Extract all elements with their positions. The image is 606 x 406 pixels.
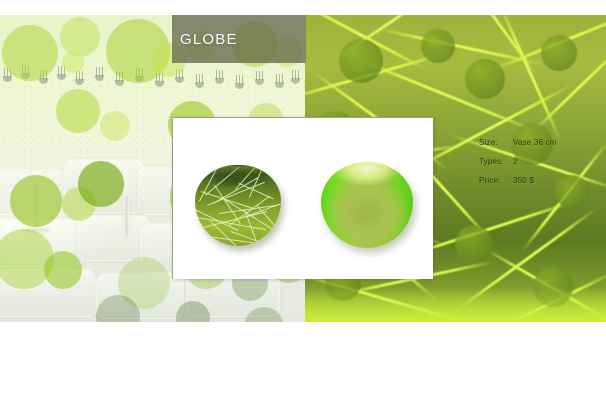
spec-value: 350 $ <box>513 176 534 185</box>
decorative-circle <box>78 161 124 207</box>
product-specs: Size: Vase 36 cm Types: 2 Price: 350 $ <box>479 138 594 195</box>
decorative-circle <box>10 175 62 227</box>
product-image-panel <box>172 117 433 279</box>
decorative-circle <box>465 59 505 99</box>
spec-value: Vase 36 cm <box>513 138 557 147</box>
spec-row-price: Price: 350 $ <box>479 176 594 195</box>
decorative-circle <box>421 29 455 63</box>
vase-smooth-globe[interactable] <box>321 162 413 248</box>
spec-label: Types: <box>479 157 513 166</box>
decorative-circle <box>60 17 100 57</box>
spec-label: Price: <box>479 176 513 185</box>
spec-label: Size: <box>479 138 513 147</box>
page-title: GLOBE <box>180 31 238 48</box>
bottom-glow <box>305 288 606 322</box>
product-image-row <box>173 118 433 279</box>
spec-row-types: Types: 2 <box>479 157 594 176</box>
decorative-circle <box>455 225 493 263</box>
spec-value: 2 <box>513 157 518 166</box>
decorative-circle <box>44 251 82 289</box>
header-bar: GLOBE <box>172 15 306 63</box>
decorative-circle <box>541 35 577 71</box>
catalog-board: GLOBE <box>0 15 606 322</box>
spec-row-size: Size: Vase 36 cm <box>479 138 594 157</box>
decorative-circle <box>56 89 100 133</box>
vase-lattice-globe[interactable] <box>195 165 281 246</box>
decorative-circle <box>100 111 130 141</box>
decorative-circle <box>62 51 84 73</box>
decorative-circle <box>339 39 383 83</box>
decorative-circle <box>2 25 58 81</box>
page-root: GLOBE <box>0 0 606 406</box>
ghost-glass-stem <box>124 195 129 237</box>
